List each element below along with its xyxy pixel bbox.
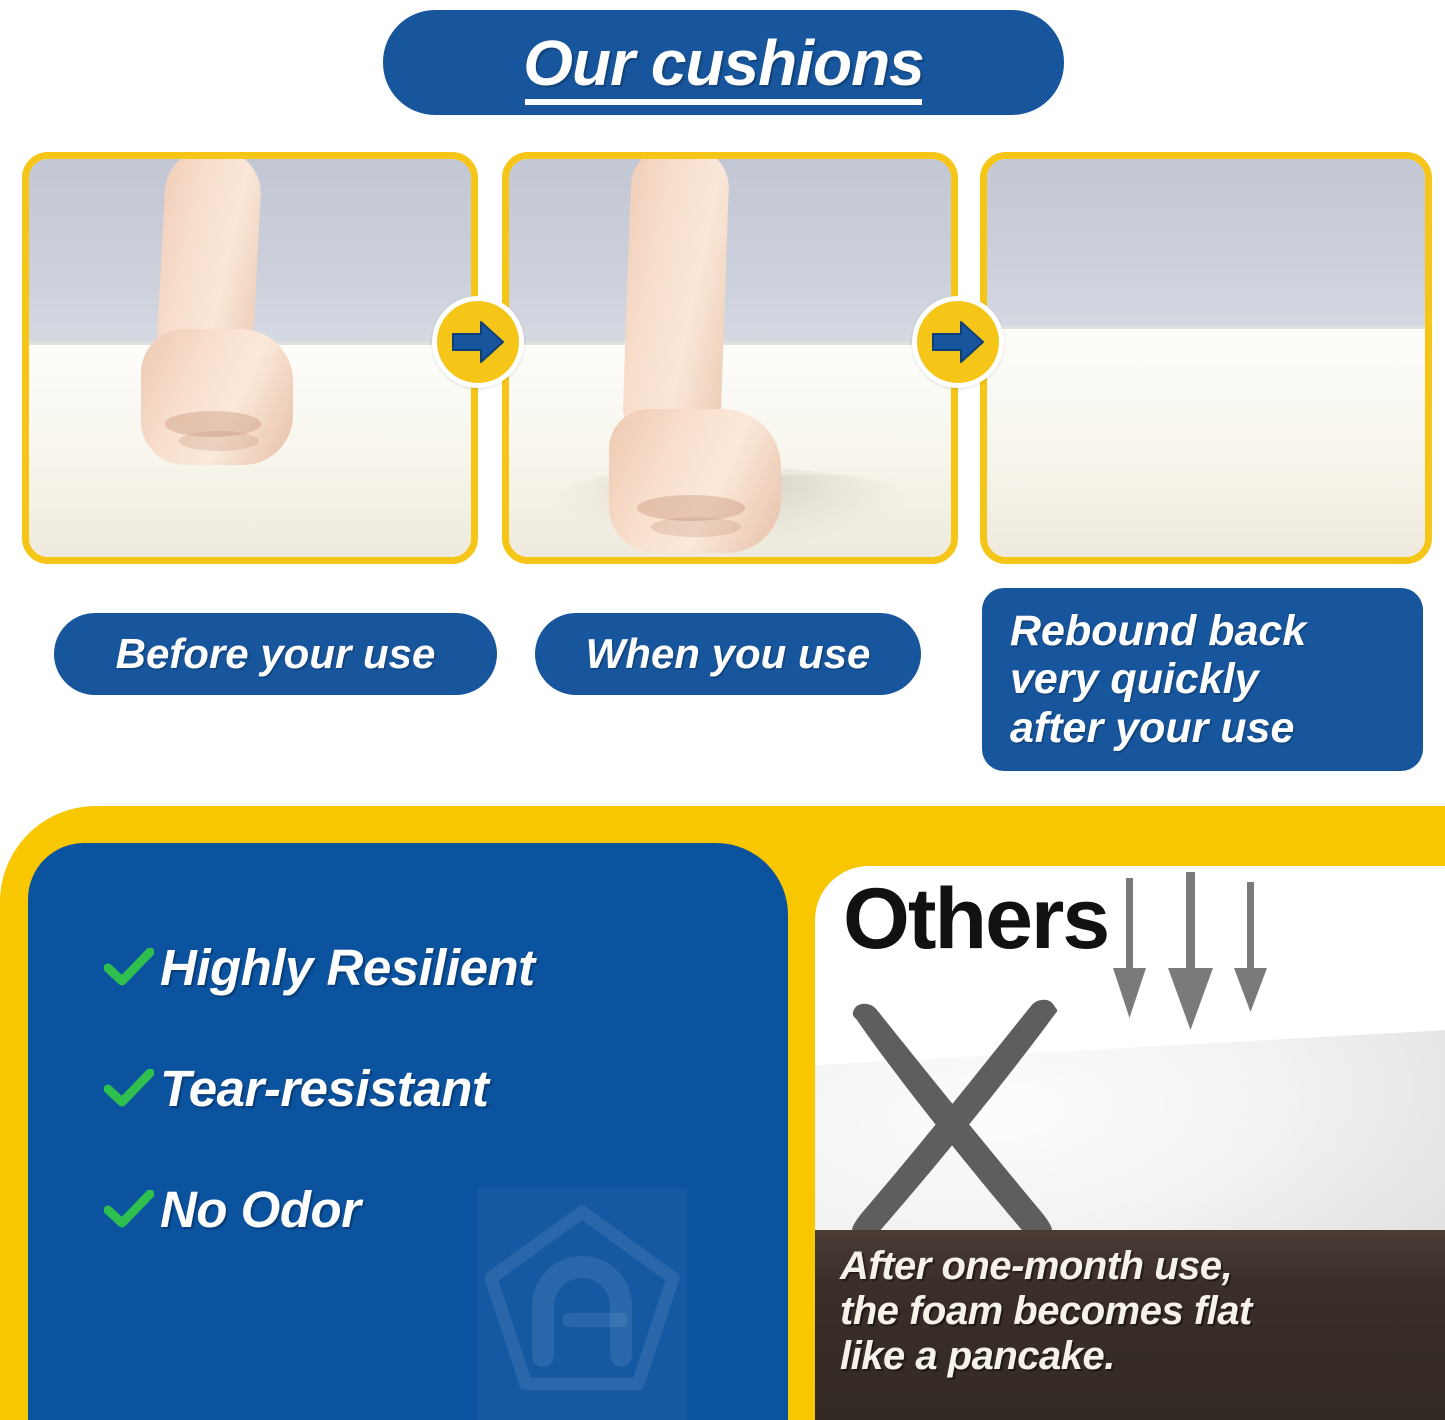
foam-top-edge: [509, 342, 951, 345]
page-title: Our cushions: [523, 31, 924, 95]
feature-list: Highly Resilient Tear-resistant No Odor: [104, 938, 744, 1301]
step-arrow-1: [432, 296, 524, 388]
step-caption-3: Rebound back very quickly after your use: [982, 588, 1423, 771]
others-caption-line-1: After one-month use,: [840, 1244, 1440, 1289]
foam-top-edge: [987, 326, 1425, 329]
step-caption-3-line-1: Rebound back: [1010, 607, 1306, 655]
step-photo-1: [22, 152, 478, 564]
scene-after-rebound: [987, 159, 1425, 557]
others-title: Others: [843, 876, 1108, 962]
forearm: [622, 159, 730, 445]
step-caption-2: When you use: [535, 613, 921, 695]
knuckle-shadow-2: [179, 431, 259, 451]
feature-label: Tear-resistant: [160, 1059, 488, 1118]
title-underline: [525, 99, 922, 105]
feature-item: Tear-resistant: [104, 1059, 744, 1118]
step-caption-3-line-2: very quickly: [1010, 655, 1306, 703]
feature-item: No Odor: [104, 1180, 744, 1239]
foam-surface: [987, 326, 1425, 557]
arrow-right-icon: [931, 320, 985, 364]
feature-item: Highly Resilient: [104, 938, 744, 997]
others-caption-line-3: like a pancake.: [840, 1334, 1440, 1379]
page-title-pill: Our cushions: [383, 10, 1064, 115]
others-caption: After one-month use, the foam becomes fl…: [840, 1244, 1440, 1378]
step-photo-2: [502, 152, 958, 564]
page-title-inner: Our cushions: [501, 31, 946, 95]
check-icon: [104, 1069, 160, 1109]
step-caption-1: Before your use: [54, 613, 497, 695]
step-photo-3: [980, 152, 1432, 564]
step-caption-3-lines: Rebound back very quickly after your use: [1010, 607, 1306, 751]
knuckle-shadow-2: [651, 517, 741, 537]
downward-pressure-arrows-icon: [1100, 872, 1290, 1052]
scene-before-use: [29, 159, 471, 557]
others-caption-line-2: the foam becomes flat: [840, 1289, 1440, 1334]
feature-label: Highly Resilient: [160, 938, 535, 997]
check-icon: [104, 948, 160, 988]
step-arrow-2: [912, 296, 1004, 388]
feature-label: No Odor: [160, 1180, 360, 1239]
check-icon: [104, 1190, 160, 1230]
step-caption-1-label: Before your use: [116, 633, 436, 676]
scene-background: [987, 159, 1425, 334]
scene-during-use: [509, 159, 951, 557]
step-caption-2-label: When you use: [586, 633, 871, 676]
arrow-right-icon: [451, 320, 505, 364]
scene-background: [509, 159, 951, 350]
infographic-page: Our cushions: [0, 0, 1445, 1420]
step-caption-3-line-3: after your use: [1010, 704, 1306, 752]
